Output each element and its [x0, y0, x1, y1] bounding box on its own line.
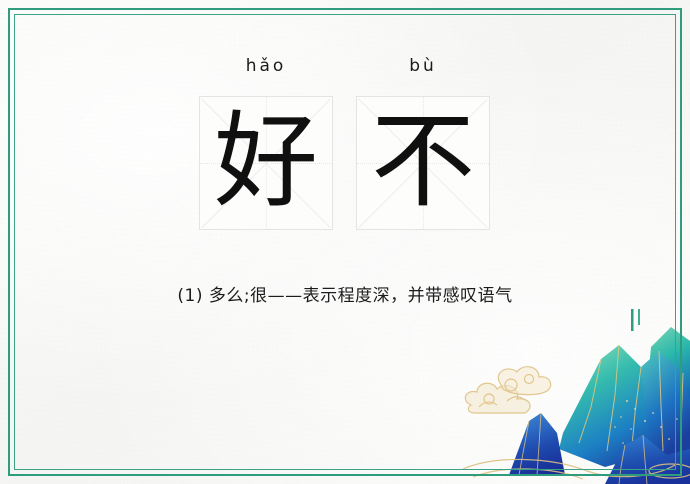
mountain-illustration [455, 309, 690, 484]
mountain-blue-small [509, 413, 565, 475]
gold-contour-icon [579, 345, 683, 457]
character-row: 好 不 [199, 96, 490, 230]
gold-cloud-icon [465, 367, 550, 413]
gold-water-ribbon-icon [463, 459, 690, 479]
character-box-bu: 不 [356, 96, 490, 230]
border-accent-icon [631, 309, 640, 331]
definition-text: (1) 多么;很——表示程度深，并带感叹语气 [0, 281, 690, 306]
mountain-main-peak [559, 345, 669, 467]
frame-outer-border [8, 8, 682, 476]
character-box-hao: 好 [199, 96, 333, 230]
flashcard-page: hǎo bù 好 不 (1) 多么;很——表示程度深，并带感叹语气 [0, 0, 690, 484]
pinyin-row: hǎo bù [199, 56, 490, 76]
character-glyph-bu: 不 [357, 97, 489, 229]
gold-speckle-icon [614, 400, 678, 444]
pinyin-bu: bù [356, 56, 490, 76]
pinyin-hao: hǎo [199, 56, 333, 76]
mountain-right [641, 351, 690, 459]
character-glyph-hao: 好 [200, 97, 332, 229]
gold-contour-icon [619, 435, 647, 484]
gold-contour-icon [519, 413, 541, 475]
frame-inner-border [14, 14, 676, 470]
mountain-blue-front [605, 435, 690, 484]
mountain-far-right [645, 327, 690, 413]
